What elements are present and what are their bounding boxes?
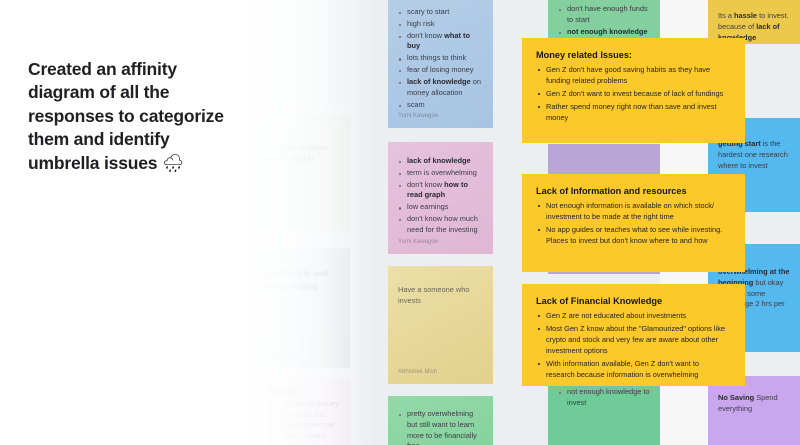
left-white-panel: Created an affinity diagram of all the r… [0, 0, 248, 445]
sticky-note-text: Its a hassle to invest. because of lack … [718, 0, 792, 43]
list-item: lots things to think [398, 53, 483, 64]
summary-panel-title: Lack of Information and resources [536, 186, 729, 196]
sticky-note-stock-future[interactable]: in stock for the future [248, 0, 350, 106]
sticky-note-scary-to-start[interactable]: scary to start high risk don't know what… [388, 0, 493, 128]
list-item: Gen Z don't want to invest because of la… [536, 88, 729, 99]
sticky-note-list: scary to start high risk don't know what… [398, 0, 483, 110]
list-item: high risk [398, 19, 483, 30]
summary-panel-lack-of-financial-knowledge[interactable]: Lack of Financial Knowledge Gen Z are no… [522, 284, 745, 386]
summary-panel-list: Gen Z don't have good saving habits as t… [536, 64, 729, 123]
list-item: don't have enough funds to start [558, 4, 650, 26]
list-item: Gen Z are not educated about investments [536, 310, 729, 321]
umbrella-icon: 🌧 [162, 153, 184, 173]
list-item: scary to start [398, 7, 483, 18]
sticky-note-subbullet: not much money to invest and don't know … [275, 399, 340, 445]
list-item: No app guides or teaches what to see whi… [536, 224, 729, 247]
summary-panel-lack-of-information-and-resources[interactable]: Lack of Information and resources Not en… [522, 174, 745, 272]
sticky-note-lack-of-knowledge[interactable]: lack of knowledge term is overwhelming d… [388, 142, 493, 254]
sticky-note-dont-have-enough-funds[interactable]: don't have enough funds to start not eno… [548, 0, 660, 42]
sticky-note-title: Yolo lifestyle and over-spending [258, 257, 340, 292]
sticky-note-list: pretty overwhelming but still want to le… [398, 405, 483, 445]
sticky-note-yolo-lifestyle[interactable]: Yolo lifestyle and over-spending Abhishe… [248, 248, 350, 368]
sticky-note-income[interactable]: INCOME not much money to invest and don'… [248, 378, 350, 445]
sticky-note-text: tools for the beginner (concise without) [258, 125, 340, 165]
list-item: term is overwhelming [398, 168, 483, 179]
list-item: Rather spend money right now than save a… [536, 101, 729, 124]
list-item: don't know what to buy [398, 31, 483, 53]
affinity-diagram-board[interactable]: in stock for the future tools for the be… [0, 0, 800, 445]
list-item: fear of losing money [398, 65, 483, 76]
sticky-note-author: Yumi Kawagoe [398, 112, 438, 121]
summary-panel-list: Gen Z are not educated about investments… [536, 310, 729, 381]
list-item: lack of knowledge [398, 156, 483, 167]
list-item: Gen Z don't have good saving habits as t… [536, 64, 729, 87]
page-title-text: Created an affinity diagram of all the r… [28, 59, 224, 173]
sticky-note-author: Abhishek Mish [258, 352, 297, 361]
list-item: Not enough information is available on w… [536, 200, 729, 223]
page-title: Created an affinity diagram of all the r… [28, 58, 233, 175]
sticky-note-have-someone-who-invests[interactable]: Have a someone who invests Abhishek Mish [388, 266, 493, 384]
sticky-note-bullet: INCOME [267, 387, 297, 396]
sticky-note-list: don't have enough funds to start not eno… [558, 0, 650, 37]
sticky-note-no-saving[interactable]: No Saving Spend everything [708, 376, 800, 445]
sticky-note-text: No Saving Spend everything [718, 385, 792, 415]
summary-panel-title: Money related Issues: [536, 50, 729, 60]
summary-panel-list: Not enough information is available on w… [536, 200, 729, 247]
list-item: low earnings [398, 202, 483, 213]
sticky-note-pretty-overwhelming[interactable]: pretty overwhelming but still want to le… [388, 396, 493, 445]
list-item: lack of knowledge on money allocation [398, 77, 483, 99]
list-item: not enough knowledge [558, 27, 650, 38]
list-item: don't know how much need for the investi… [398, 214, 483, 236]
sticky-note-author: Yumi Kawagoe [398, 238, 438, 247]
list-item: scam [398, 100, 483, 111]
list-item: Most Gen Z know about the "Glamourized" … [536, 323, 729, 357]
list-item: With information available, Gen Z don't … [536, 358, 729, 381]
sticky-note-author: Abhishek Mish [398, 368, 437, 377]
list-item: don't know how to read graph [398, 180, 483, 202]
sticky-note-beginner-concise[interactable]: tools for the beginner (concise without) [248, 116, 350, 231]
sticky-note-text: Have a someone who invests [398, 275, 483, 307]
summary-panel-title: Lack of Financial Knowledge [536, 296, 729, 306]
list-item: not enough knowledge to invest [558, 387, 650, 409]
sticky-note-list: lack of knowledge term is overwhelming d… [398, 151, 483, 236]
summary-panel-money-related-issues[interactable]: Money related Issues: Gen Z don't have g… [522, 38, 745, 143]
list-item: pretty overwhelming but still want to le… [398, 409, 483, 445]
